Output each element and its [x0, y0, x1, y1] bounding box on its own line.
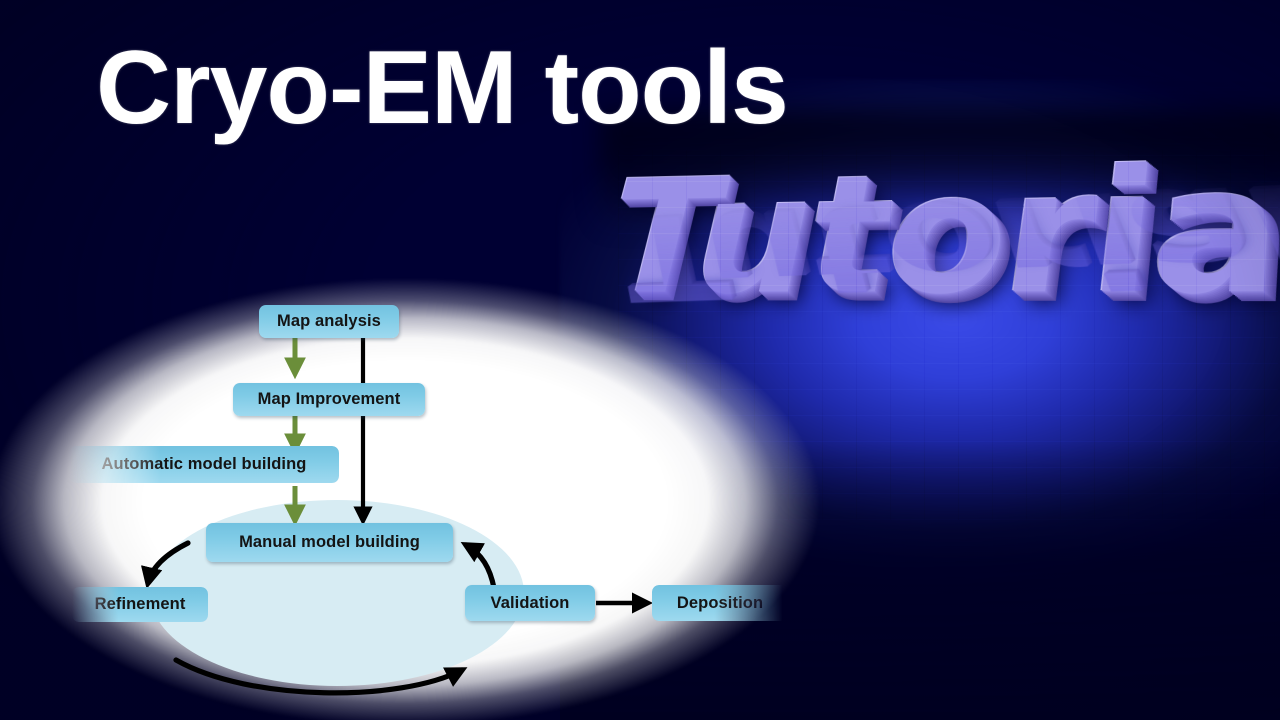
page-title: Cryo-EM tools	[96, 34, 788, 143]
node-validation[interactable]: Validation	[465, 585, 595, 621]
slide-canvas: Tutorial Tutorial Cryo-EM tools	[0, 0, 1280, 720]
arrow-manual-to-refinement	[148, 543, 188, 583]
node-manual-model-building[interactable]: Manual model building	[206, 523, 453, 562]
cryoem-workflow-diagram: Map analysis Map Improvement Automatic m…	[0, 278, 830, 720]
node-refinement[interactable]: Refinement	[72, 587, 208, 622]
node-automatic-model-building[interactable]: Automatic model building	[69, 446, 339, 483]
node-map-analysis[interactable]: Map analysis	[259, 305, 399, 338]
node-map-improvement[interactable]: Map Improvement	[233, 383, 425, 416]
node-deposition[interactable]: Deposition	[652, 585, 788, 621]
diagram-arrows	[0, 278, 830, 720]
arrow-refinement-to-validation	[176, 660, 462, 693]
arrow-validation-to-manual	[466, 545, 494, 588]
